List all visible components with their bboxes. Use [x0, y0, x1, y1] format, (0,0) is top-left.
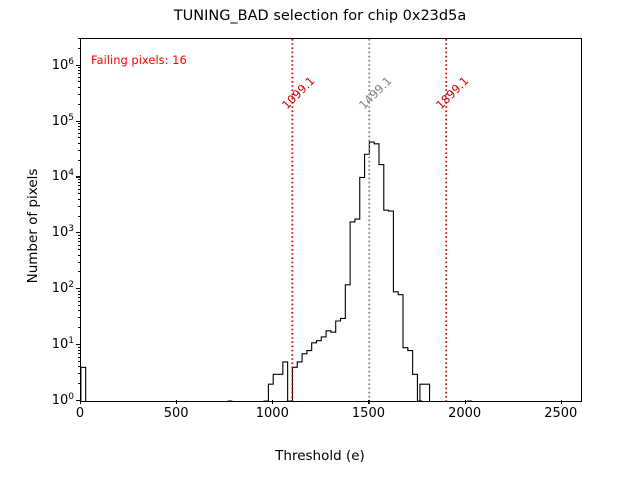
y-tick-label: 106	[52, 56, 74, 72]
y-tick-label: 104	[52, 168, 74, 184]
x-axis-label: Threshold (e)	[0, 448, 640, 464]
y-tick-mark-minor	[78, 185, 80, 186]
y-tick-mark-minor	[78, 262, 80, 263]
y-tick-mark-minor	[78, 366, 80, 367]
y-tick-mark-minor	[78, 199, 80, 200]
y-tick-mark-minor	[78, 317, 80, 318]
y-tick-mark-minor	[78, 245, 80, 246]
y-tick-mark-minor	[78, 357, 80, 358]
y-tick-mark-minor	[78, 327, 80, 328]
y-tick-mark-minor	[78, 104, 80, 105]
y-tick-mark-minor	[78, 126, 80, 127]
y-tick-mark-minor	[78, 48, 80, 49]
vertical-marker-lines	[81, 39, 581, 401]
plot-inner	[81, 39, 581, 401]
x-tick-label: 0	[76, 406, 84, 421]
x-tick-mark	[272, 400, 273, 404]
y-tick-mark-minor	[78, 137, 80, 138]
x-tick-label: 500	[164, 406, 189, 421]
y-tick-label: 103	[52, 224, 74, 240]
x-tick-mark	[176, 400, 177, 404]
y-tick-mark-minor	[78, 383, 80, 384]
y-tick-mark	[76, 176, 80, 177]
y-tick-mark-minor	[78, 38, 80, 39]
failing-pixels-annotation: Failing pixels: 16	[91, 53, 187, 67]
y-tick-label: 102	[52, 280, 74, 296]
x-tick-mark	[368, 400, 369, 404]
y-tick-mark-minor	[78, 73, 80, 74]
y-tick-mark-minor	[78, 182, 80, 183]
y-tick-mark-minor	[78, 143, 80, 144]
y-tick-mark-minor	[78, 81, 80, 82]
y-tick-mark	[76, 288, 80, 289]
y-tick-mark-minor	[78, 353, 80, 354]
x-tick-label: 1000	[256, 406, 289, 421]
y-tick-mark-minor	[78, 206, 80, 207]
y-tick-mark-minor	[78, 77, 80, 78]
y-tick-mark-minor	[78, 291, 80, 292]
y-tick-mark-minor	[78, 347, 80, 348]
page-title: TUNING_BAD selection for chip 0x23d5a	[0, 8, 640, 24]
y-axis-label: Number of pixels	[25, 45, 41, 407]
y-tick-mark-minor	[78, 216, 80, 217]
y-tick-mark-minor	[78, 249, 80, 250]
x-tick-mark	[561, 400, 562, 404]
y-tick-mark	[76, 121, 80, 122]
x-tick-mark	[80, 400, 81, 404]
y-tick-mark-minor	[78, 310, 80, 311]
y-tick-mark-minor	[78, 301, 80, 302]
y-tick-mark-minor	[78, 271, 80, 272]
y-tick-mark-minor	[78, 189, 80, 190]
plot-area: Failing pixels: 16	[80, 38, 582, 402]
y-tick-mark-minor	[78, 70, 80, 71]
y-tick-mark	[76, 400, 80, 401]
y-tick-mark-minor	[78, 123, 80, 124]
y-tick-mark-minor	[78, 179, 80, 180]
y-tick-mark-minor	[78, 373, 80, 374]
y-tick-mark-minor	[78, 67, 80, 68]
y-tick-mark-minor	[78, 297, 80, 298]
y-tick-mark-minor	[78, 160, 80, 161]
y-tick-mark-minor	[78, 238, 80, 239]
y-tick-mark	[76, 232, 80, 233]
y-tick-mark-minor	[78, 94, 80, 95]
y-tick-mark-minor	[78, 294, 80, 295]
y-tick-mark-minor	[78, 87, 80, 88]
y-tick-mark-minor	[78, 255, 80, 256]
chart-figure: TUNING_BAD selection for chip 0x23d5a Fa…	[0, 0, 640, 480]
x-tick-label: 2000	[448, 406, 481, 421]
y-tick-label: 101	[52, 336, 74, 352]
y-tick-label: 100	[52, 392, 74, 408]
y-tick-mark-minor	[78, 129, 80, 130]
y-tick-mark-minor	[78, 241, 80, 242]
y-tick-mark-minor	[78, 305, 80, 306]
y-tick-mark	[76, 344, 80, 345]
y-tick-mark-minor	[78, 150, 80, 151]
y-tick-mark-minor	[78, 350, 80, 351]
y-tick-mark-minor	[78, 193, 80, 194]
y-tick-mark-minor	[78, 133, 80, 134]
y-tick-label: 105	[52, 112, 74, 128]
x-tick-label: 2500	[544, 406, 577, 421]
x-tick-label: 1500	[352, 406, 385, 421]
x-tick-mark	[465, 400, 466, 404]
y-tick-mark-minor	[78, 235, 80, 236]
y-tick-mark	[76, 65, 80, 66]
y-tick-mark-minor	[78, 361, 80, 362]
